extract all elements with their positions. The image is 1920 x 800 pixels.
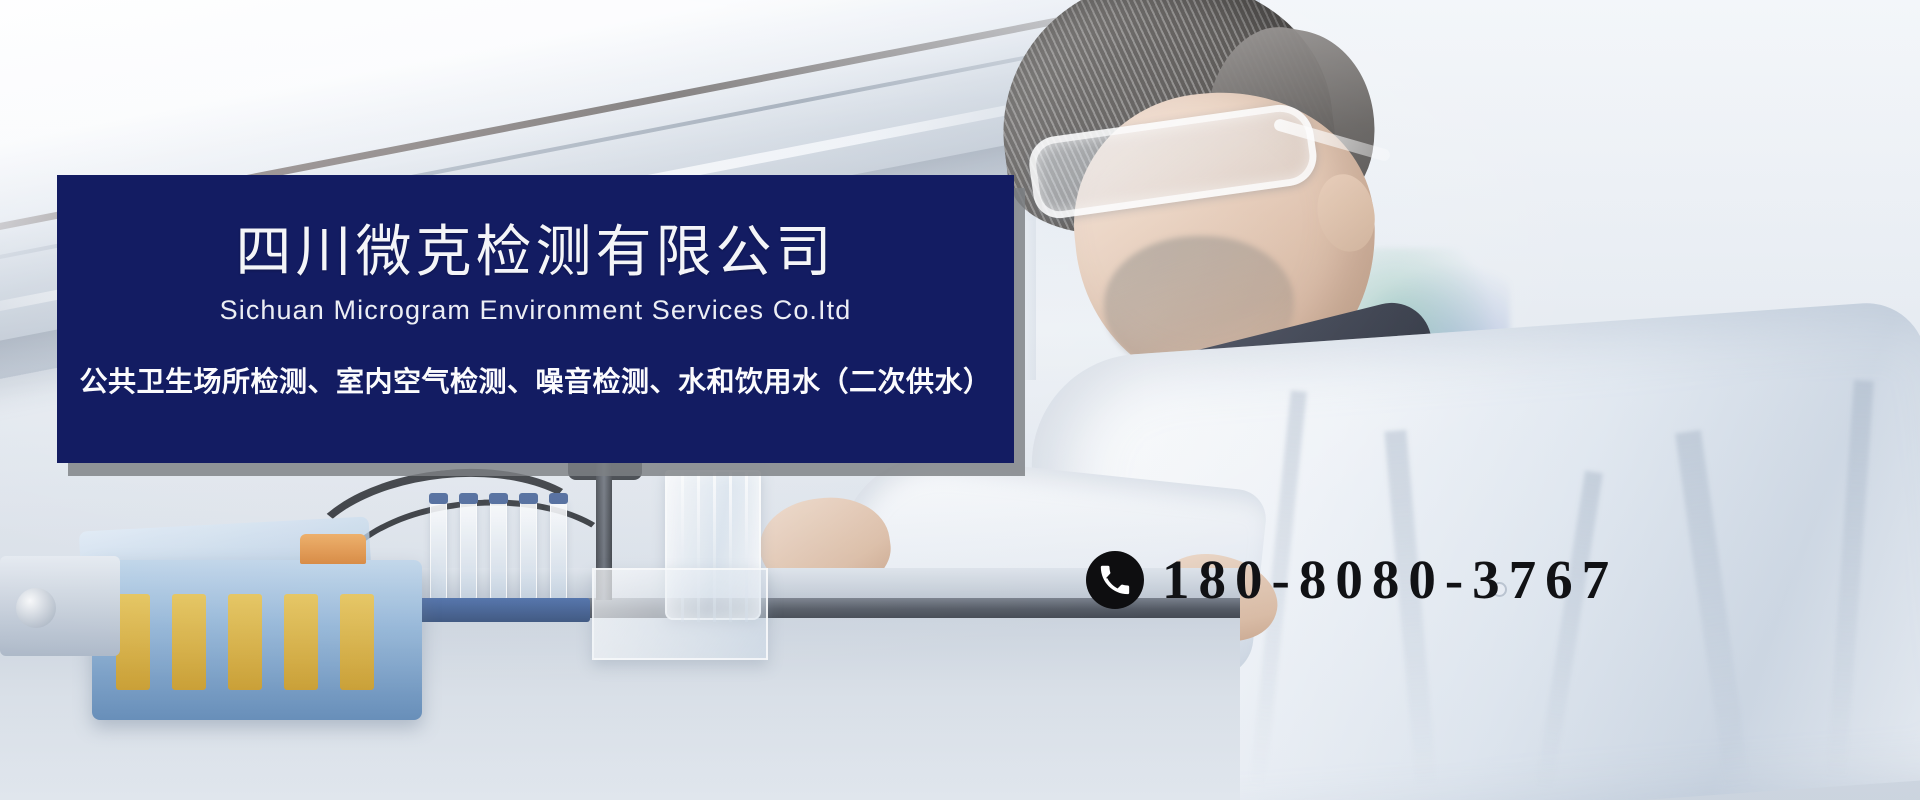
contact-phone-block[interactable]: 180-8080-3767 [1086, 548, 1618, 611]
test-tube-rack-base [418, 598, 590, 622]
glass-container [592, 568, 768, 660]
company-banner: 四川微克检测有限公司 Sichuan Microgram Environment… [57, 175, 1014, 463]
phone-handset-icon[interactable] [1086, 551, 1144, 609]
phone-number-text[interactable]: 180-8080-3767 [1162, 548, 1618, 611]
company-name-english: Sichuan Microgram Environment Services C… [220, 295, 852, 326]
banner-stage: 四川微克检测有限公司 Sichuan Microgram Environment… [0, 0, 1920, 800]
orange-bottle-cap [300, 534, 366, 564]
stirrer-knob [16, 588, 56, 628]
sample-tray [92, 560, 422, 720]
services-tagline: 公共卫生场所检测、室内空气检测、噪音检测、水和饮用水（二次供水） [79, 360, 991, 400]
company-name-chinese: 四川微克检测有限公司 [236, 222, 836, 281]
